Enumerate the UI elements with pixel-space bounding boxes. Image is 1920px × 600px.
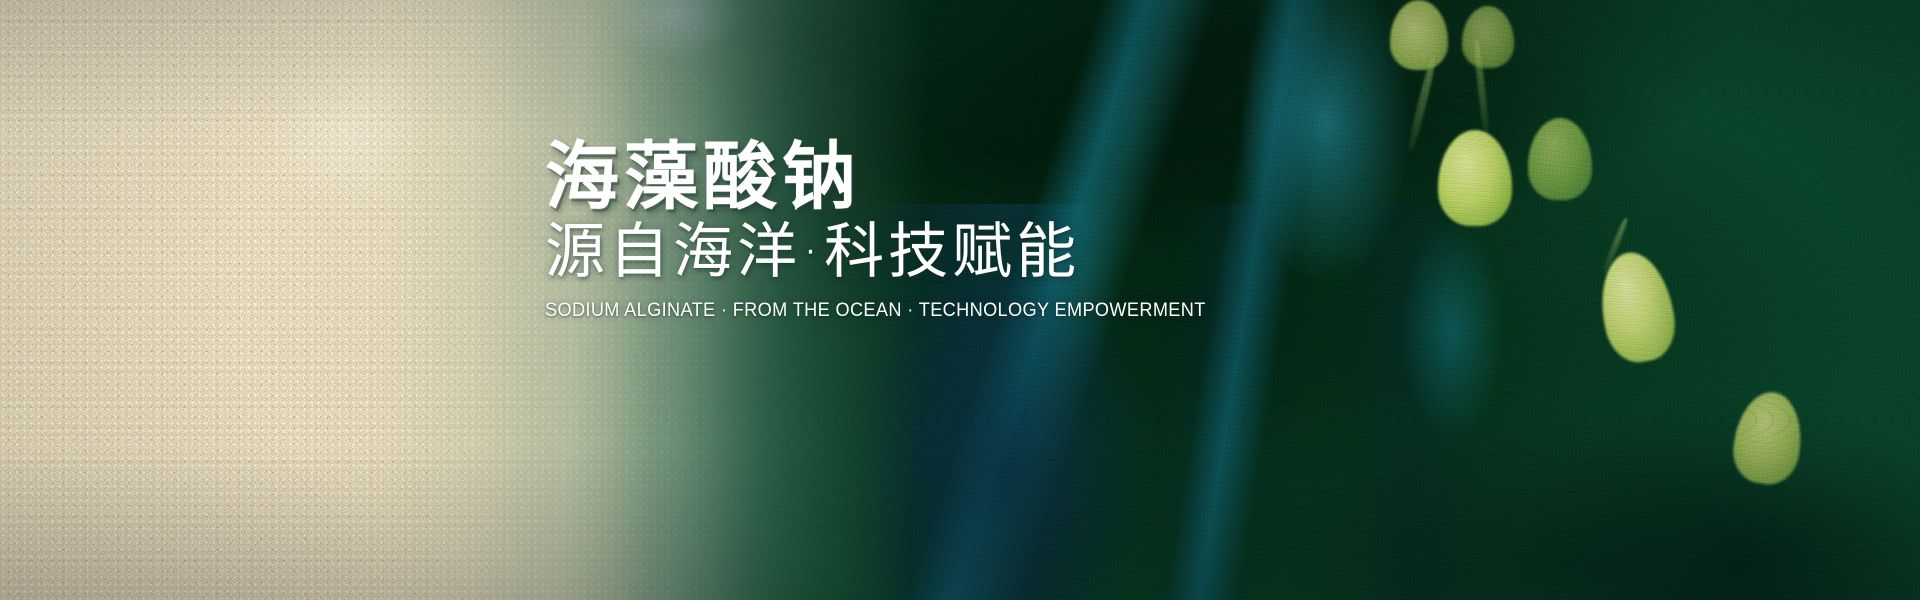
pneumatocyst-icon <box>1729 388 1807 488</box>
hero-banner: 海藻酸钠 源自海洋·科技赋能 SODIUM ALGINATE · FROM TH… <box>0 0 1920 600</box>
banner-copy-block: 海藻酸钠 源自海洋·科技赋能 SODIUM ALGINATE · FROM TH… <box>545 140 1545 322</box>
pneumatocyst-icon <box>1593 247 1681 367</box>
banner-headline: 海藻酸钠 <box>545 140 1545 214</box>
pneumatocyst-icon <box>1462 6 1514 68</box>
kelp-stalk-3 <box>1601 217 1629 275</box>
banner-tagline-english: SODIUM ALGINATE · FROM THE OCEAN · TECHN… <box>545 299 1475 322</box>
banner-subheadline: 源自海洋·科技赋能 <box>545 220 1545 285</box>
kelp-stalk-2 <box>1473 40 1490 136</box>
kelp-stalk-1 <box>1407 56 1438 151</box>
pneumatocyst-icon <box>1390 0 1448 70</box>
